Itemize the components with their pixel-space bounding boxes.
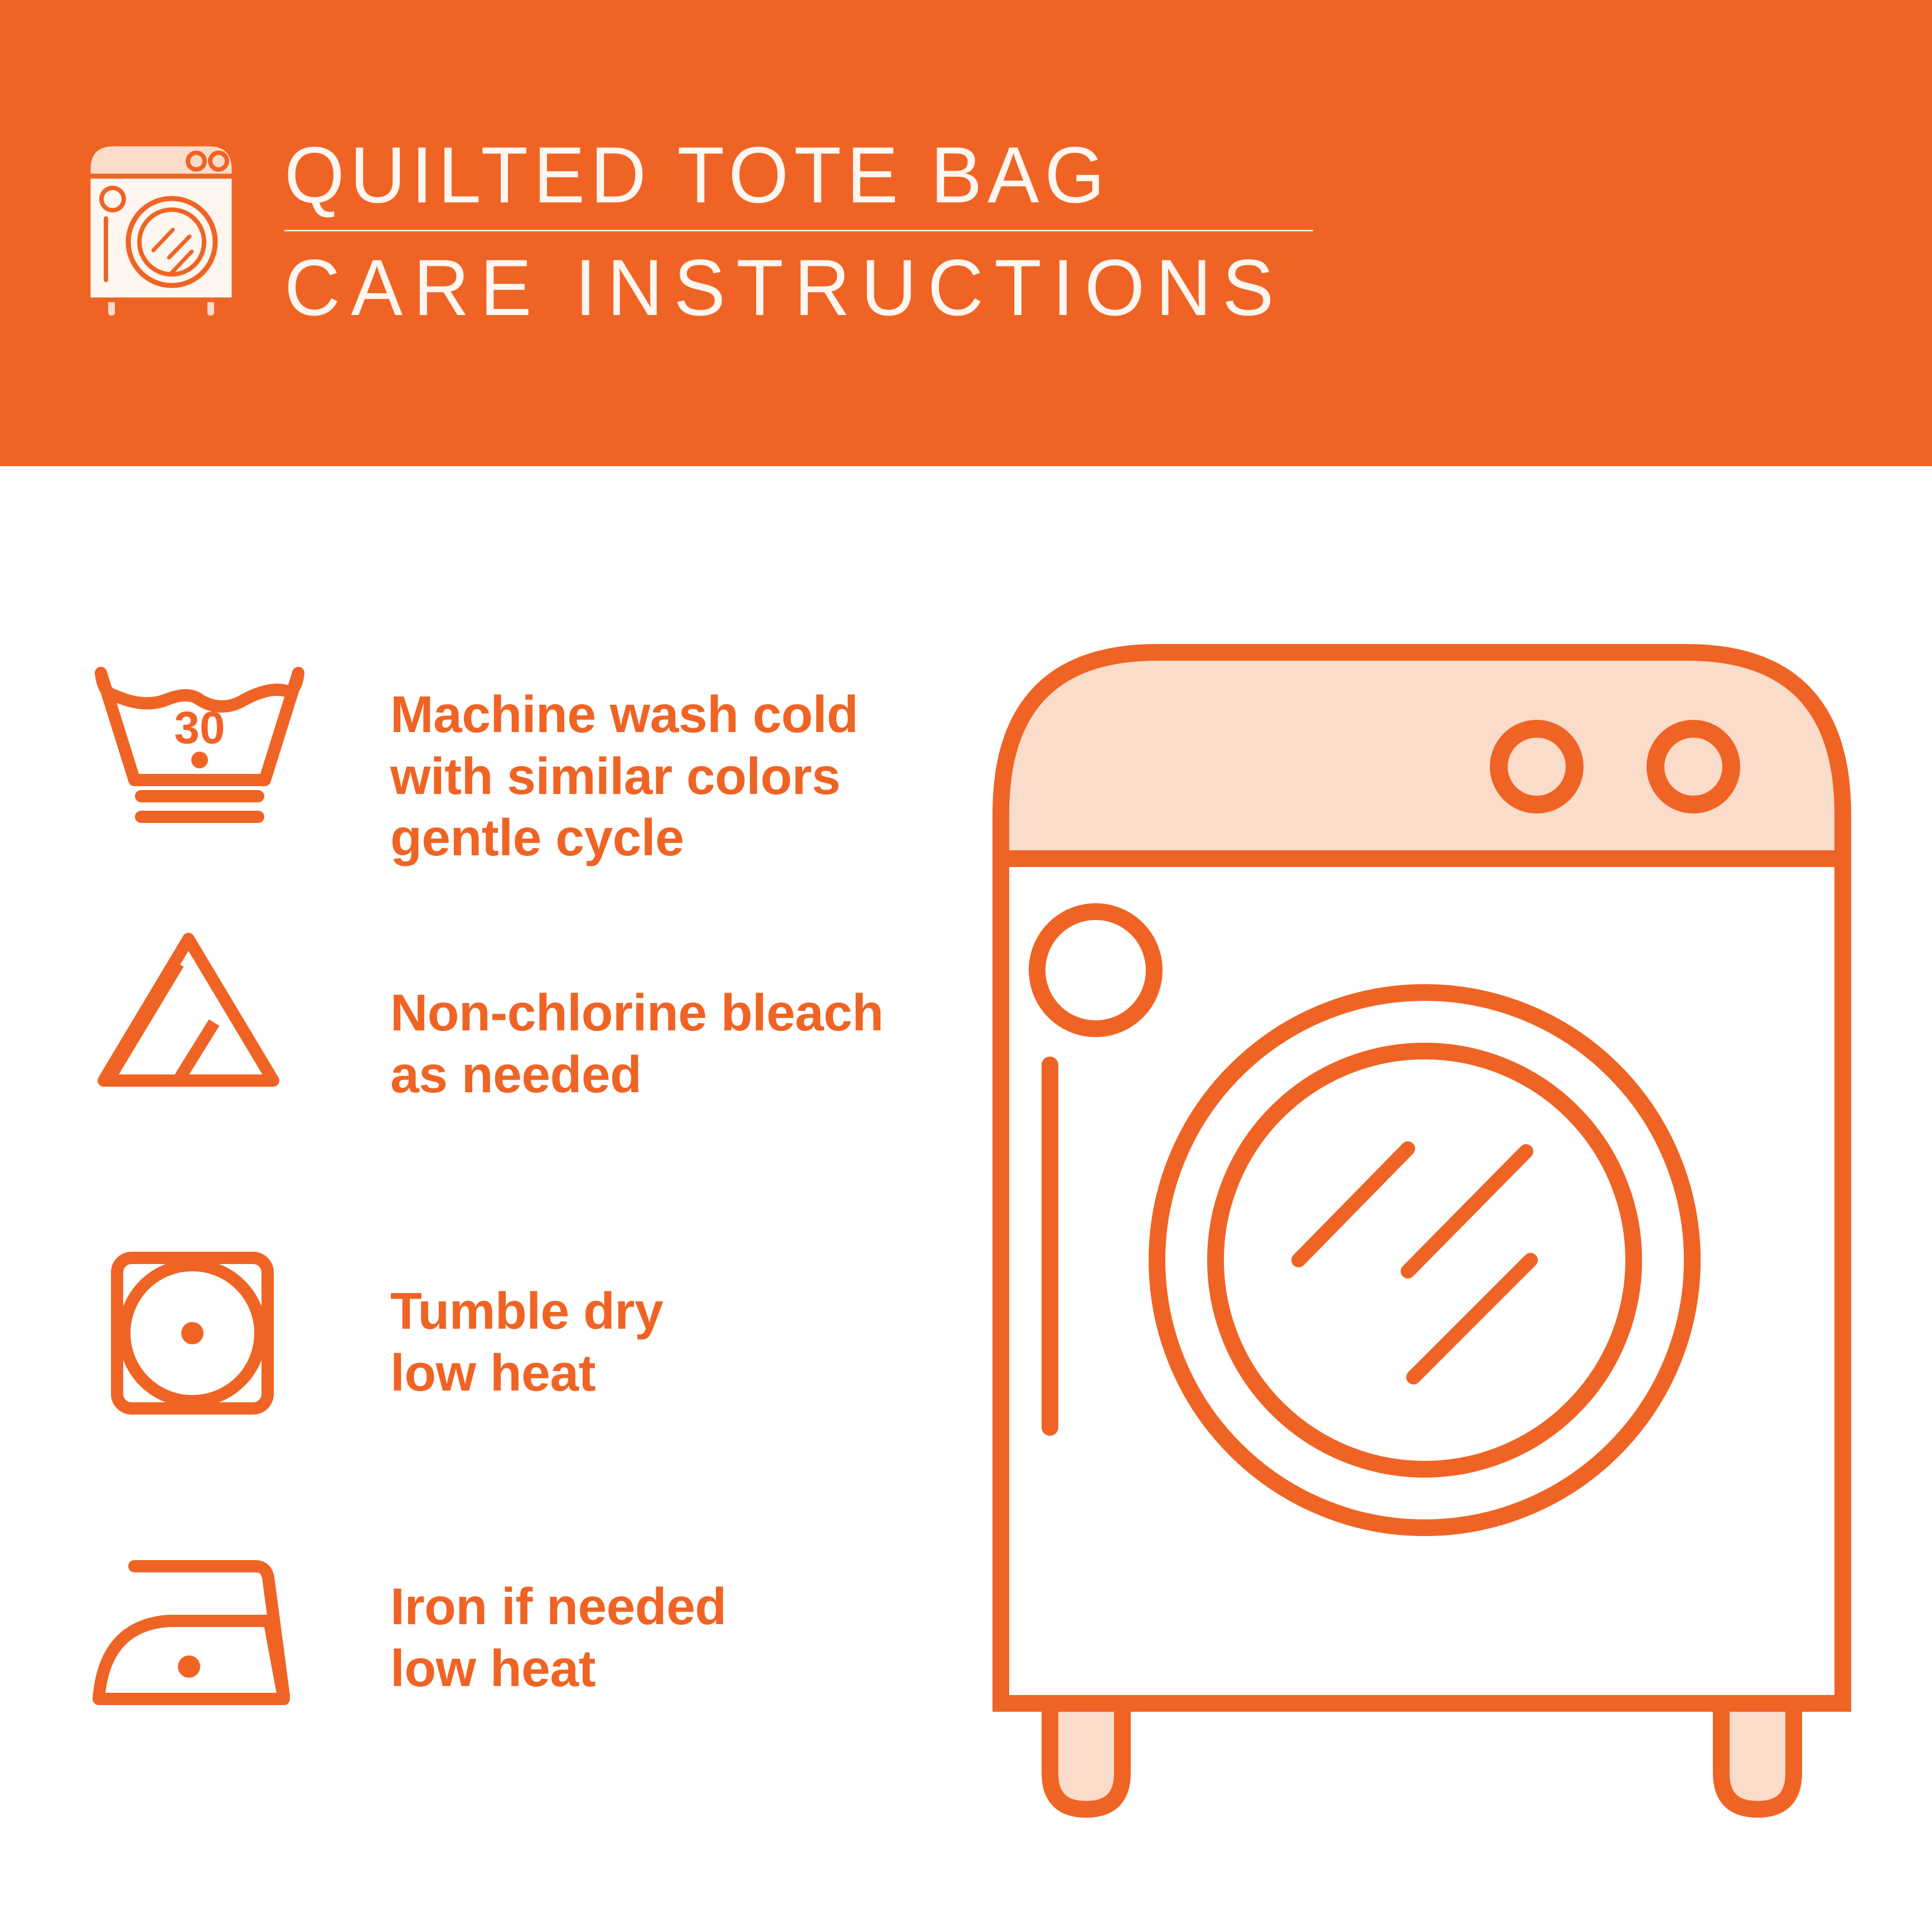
care-row-bleach: Non-chlorine bleach as needed xyxy=(0,812,948,1113)
care-label-bleach: Non-chlorine bleach as needed xyxy=(390,982,883,1105)
page-subtitle: CARE INSTRUCTIONS xyxy=(284,248,1290,328)
bleach-triangle-icon xyxy=(94,929,283,1091)
care-row-machine-wash: 30 Machine wash cold with similar colors… xyxy=(0,466,948,812)
iron-low-heat-icon xyxy=(91,1550,292,1717)
knob-left xyxy=(1499,729,1575,805)
wash-tub-30-icon: 30 xyxy=(91,665,308,827)
knob-right xyxy=(1655,729,1731,805)
washing-machine-icon xyxy=(83,136,244,320)
header-banner: QUILTED TOTE BAG CARE INSTRUCTIONS xyxy=(0,0,1932,466)
leg-right xyxy=(1721,1703,1794,1809)
wash-temperature-label: 30 xyxy=(174,703,225,753)
care-label-tumble-dry: Tumble dry low heat xyxy=(390,1280,663,1403)
leg-left xyxy=(1050,1703,1122,1809)
page-title: QUILTED TOTE BAG xyxy=(284,135,1290,215)
care-label-iron: Iron if needed low heat xyxy=(390,1576,727,1699)
tumble-dry-low-icon xyxy=(109,1250,276,1417)
washing-machine-illustration xyxy=(967,636,1876,1829)
header-title-block: QUILTED TOTE BAG CARE INSTRUCTIONS xyxy=(284,135,1321,328)
care-row-tumble-dry: Tumble dry low heat xyxy=(0,1113,948,1414)
title-divider xyxy=(284,230,1313,231)
care-instruction-list: 30 Machine wash cold with similar colors… xyxy=(0,466,948,1932)
care-row-iron: Iron if needed low heat xyxy=(0,1414,948,1715)
